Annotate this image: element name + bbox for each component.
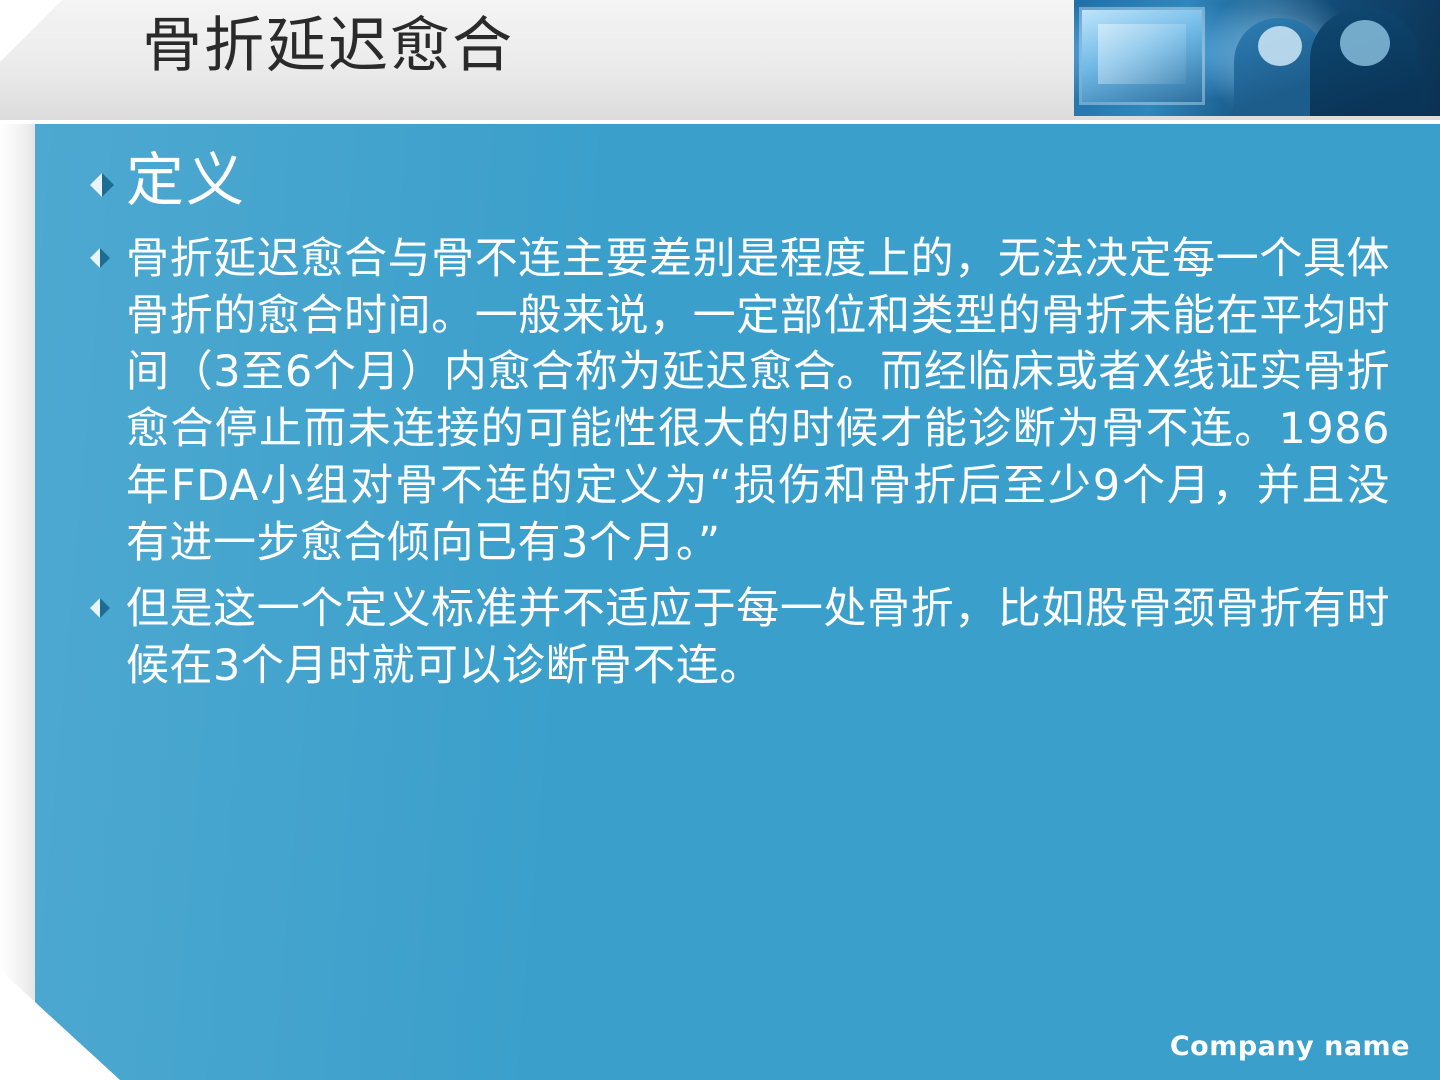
- bullet-heading: 定义: [90, 150, 1390, 211]
- surgery-team-photo: [1074, 0, 1440, 116]
- page-title: 骨折延迟愈合: [142, 16, 514, 76]
- left-edge-strip: [0, 124, 36, 1080]
- presentation-slide: 骨折延迟愈合 Company name 定义 骨折延迟愈合与骨不连主要差别是程度…: [0, 0, 1440, 1080]
- section-heading: 定义: [126, 150, 246, 211]
- monitor-icon: [1082, 10, 1202, 102]
- footer-company-name: Company name: [1170, 1031, 1410, 1062]
- diamond-bullet-icon: [90, 595, 112, 621]
- header-corner-cut: [0, 0, 62, 62]
- bullet-paragraph-1: 骨折延迟愈合与骨不连主要差别是程度上的，无法决定每一个具体骨折的愈合时间。一般来…: [90, 231, 1390, 572]
- diamond-bullet-icon: [90, 245, 112, 271]
- surgeon-figure-two: [1310, 8, 1420, 116]
- diamond-bullet-icon: [90, 170, 112, 196]
- paragraph-text: 但是这一个定义标准并不适应于每一处骨折，比如股骨颈骨折有时候在3个月时就可以诊断…: [126, 581, 1390, 695]
- slide-content: 定义 骨折延迟愈合与骨不连主要差别是程度上的，无法决定每一个具体骨折的愈合时间。…: [90, 150, 1390, 695]
- paragraph-text: 骨折延迟愈合与骨不连主要差别是程度上的，无法决定每一个具体骨折的愈合时间。一般来…: [126, 231, 1390, 572]
- bullet-paragraph-2: 但是这一个定义标准并不适应于每一处骨折，比如股骨颈骨折有时候在3个月时就可以诊断…: [90, 581, 1390, 695]
